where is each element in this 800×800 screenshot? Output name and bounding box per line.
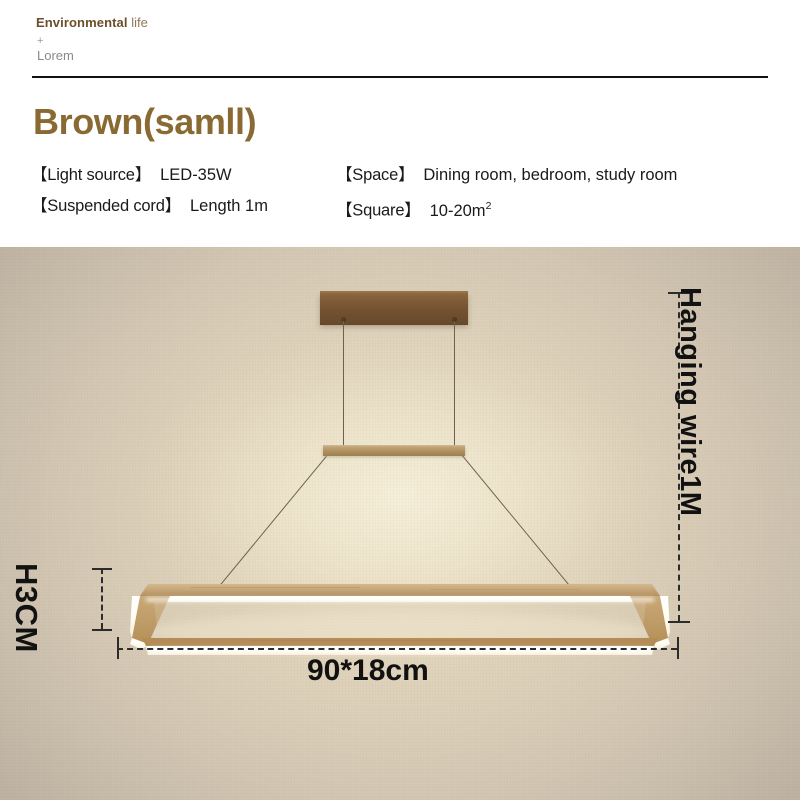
- product-spec-image: Environmental life + Lorem Brown(samll) …: [0, 0, 800, 800]
- spec-key: 【Suspended cord】: [31, 197, 181, 215]
- spec-suspended-cord: 【Suspended cord】Length 1m: [31, 195, 268, 217]
- header-divider: [32, 76, 768, 78]
- spec-space: 【Space】Dining room, bedroom, study room: [336, 164, 677, 186]
- brand-subtitle: Lorem: [37, 48, 74, 64]
- page-title: Brown(samll): [33, 101, 256, 143]
- brand-name-light: life: [128, 15, 148, 30]
- spec-row: 【Suspended cord】Length 1m 【Square】10-20m…: [31, 195, 771, 226]
- spec-list: 【Light source】LED-35W 【Space】Dining room…: [31, 164, 771, 226]
- spec-key: 【Square】: [336, 202, 421, 220]
- spec-light-source: 【Light source】LED-35W: [31, 164, 232, 186]
- brand-plus-symbol: +: [37, 36, 43, 47]
- specification-panel: Environmental life + Lorem Brown(samll) …: [0, 0, 800, 247]
- brand-logo: Environmental life: [36, 14, 148, 31]
- spec-key: 【Light source】: [31, 166, 151, 184]
- spec-row: 【Light source】LED-35W 【Space】Dining room…: [31, 164, 771, 195]
- spec-square: 【Square】10-20m2: [336, 195, 491, 222]
- brand-name-strong: Environmental: [36, 15, 128, 30]
- spec-key: 【Space】: [336, 166, 414, 184]
- spec-value: 10-20m: [430, 202, 486, 220]
- spec-value: Length 1m: [190, 197, 268, 215]
- spec-value: Dining room, bedroom, study room: [423, 166, 677, 184]
- spec-value: LED-35W: [160, 166, 232, 184]
- photo-vignette: [0, 247, 800, 800]
- spec-value-superscript: 2: [486, 200, 492, 212]
- product-photo: Hanging wire1M H3CM 90*18cm: [0, 247, 800, 800]
